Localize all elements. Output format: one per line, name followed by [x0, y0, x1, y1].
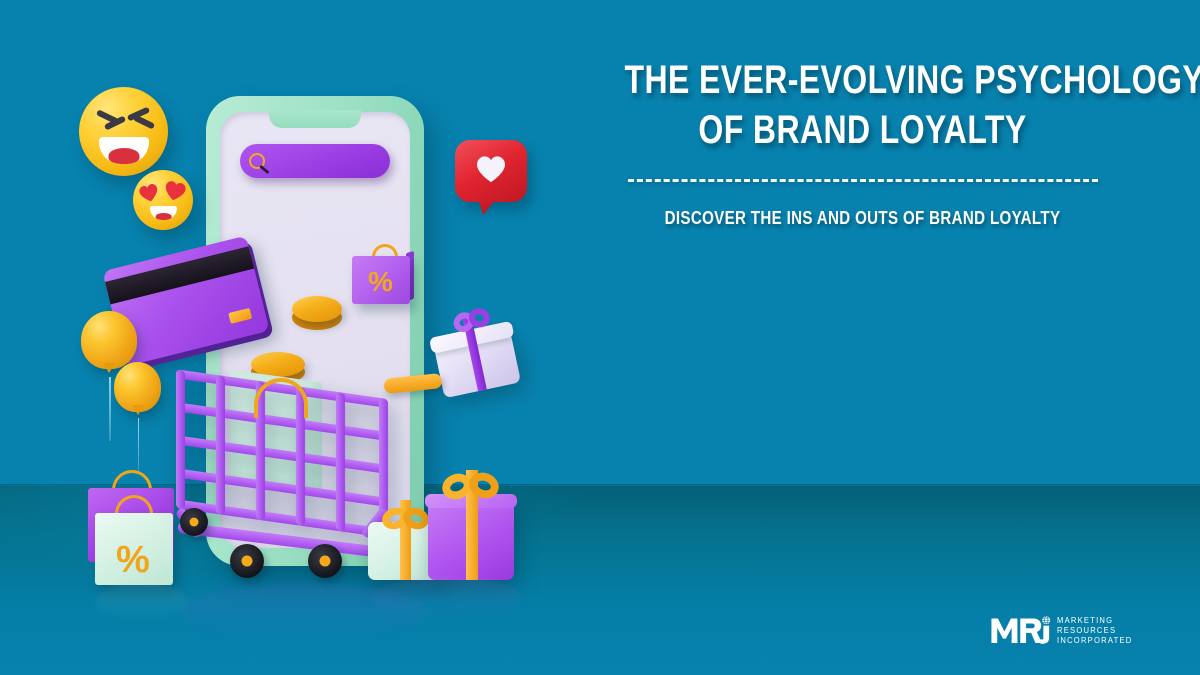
- cart-handle: [383, 373, 442, 394]
- discount-bag-mint: %: [95, 493, 177, 585]
- heart-eyes-emoji: [133, 170, 193, 230]
- subtitle: DISCOVER THE INS AND OUTS OF BRAND LOYAL…: [613, 208, 1113, 229]
- phone-notch: [269, 110, 361, 128]
- heart-notification-bubble: [455, 140, 527, 202]
- heart-icon: [476, 155, 506, 183]
- emoji-mouth: [99, 137, 149, 164]
- cart-wheel: [230, 544, 264, 578]
- logo-tagline-line-2: RESOURCES: [1057, 626, 1132, 635]
- discount-bag-purple: %: [352, 238, 414, 304]
- logo-tagline-line-3: INCORPORATED: [1057, 636, 1132, 645]
- search-bar-illustration: [240, 144, 390, 178]
- bag-reflection: [96, 582, 188, 622]
- search-icon-handle: [259, 165, 269, 174]
- dashed-divider: [628, 179, 1098, 182]
- hero-illustration: %: [0, 0, 560, 675]
- logo-tagline-line-1: MARKETING: [1057, 616, 1132, 625]
- mri-wordmark-icon: [990, 613, 1052, 647]
- percent-symbol: %: [368, 266, 393, 298]
- gold-balloon-small: [114, 362, 161, 420]
- hero-text-block: THE EVER-EVOLVING PSYCHOLOGY OF BRAND LO…: [565, 55, 1160, 229]
- brand-logo: MARKETING RESOURCES INCORPORATED: [990, 607, 1125, 653]
- gift-box-purple: [428, 470, 514, 580]
- gift-reflection: [372, 576, 522, 620]
- logo-tagline: MARKETING RESOURCES INCORPORATED: [1057, 615, 1136, 645]
- heart-icon: [162, 179, 188, 203]
- heart-icon: [137, 182, 161, 204]
- gift-box-white: [429, 308, 521, 399]
- cart-wheel: [308, 544, 342, 578]
- cart-wheel: [180, 508, 208, 536]
- page-title: THE EVER-EVOLVING PSYCHOLOGY OF BRAND LO…: [625, 55, 1101, 155]
- gold-coin: [292, 296, 342, 330]
- headline-line-2: OF BRAND LOYALTY: [625, 105, 1101, 155]
- laughing-emoji: [79, 87, 168, 176]
- poster-canvas: %: [0, 0, 1200, 675]
- headline-line-1: THE EVER-EVOLVING PSYCHOLOGY: [625, 55, 1101, 105]
- logo-mark: [990, 613, 1052, 647]
- percent-symbol: %: [116, 539, 150, 582]
